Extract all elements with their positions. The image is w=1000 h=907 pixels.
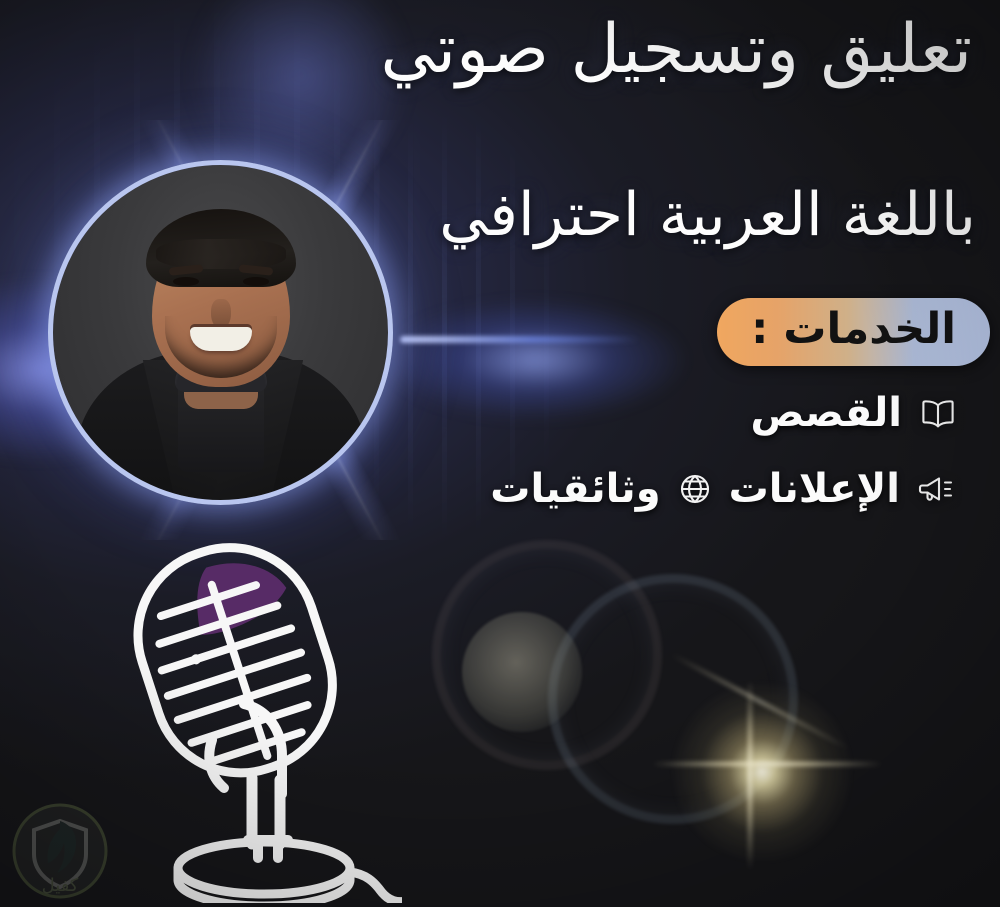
page-title-line-2: باللغة العربية احترافي [356, 176, 976, 254]
background-glow-right [385, 300, 685, 420]
services-badge: الخدمات : [717, 298, 990, 366]
service-label-documentaries: وثائقيات [490, 466, 660, 512]
watermark-logo: كفيل [8, 799, 112, 903]
service-row: الإعلانات وثائقيات [490, 466, 956, 512]
retro-microphone-illustration [92, 528, 402, 903]
lens-flare-orb [462, 612, 582, 732]
service-label-stories: القصص [750, 390, 902, 436]
service-label-advertisements: الإعلانات [729, 466, 900, 512]
globe-icon [679, 473, 711, 505]
watermark-text: كفيل [42, 875, 79, 896]
banner-canvas: تعليق وتسجيل صوتي باللغة العربية احترافي… [0, 0, 1000, 907]
avatar [48, 160, 393, 505]
service-row: القصص [750, 390, 956, 436]
page-title-line-1: تعليق وتسجيل صوتي [272, 6, 972, 93]
lens-flare-spike-horizontal [652, 762, 882, 766]
lens-flare-spike-vertical [748, 680, 752, 870]
background-light-streak [400, 336, 640, 343]
portrait-ring [48, 160, 393, 505]
lens-flare-starburst [672, 682, 852, 862]
megaphone-icon [918, 474, 956, 504]
open-book-icon [920, 398, 956, 428]
